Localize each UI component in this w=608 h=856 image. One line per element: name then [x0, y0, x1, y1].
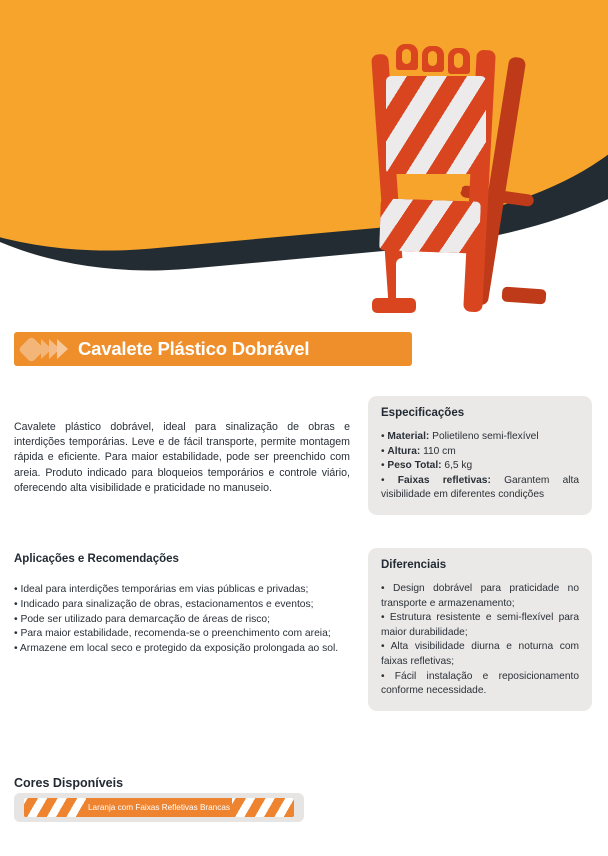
aplicacoes-list: • Ideal para interdições temporárias em …	[14, 583, 350, 657]
spec-label-1: Altura:	[387, 446, 420, 457]
barricade-foot-left	[372, 298, 416, 313]
barricade-handle-slot-1	[402, 49, 411, 64]
barricade-handle-slot-2	[428, 51, 437, 66]
spec-label-3: Faixas refletivas:	[398, 475, 491, 486]
barricade-reflective-panel-upper	[386, 76, 486, 174]
spec-bullet-2: •	[381, 460, 385, 471]
diferencial-item: • Design dobrável para praticidade no tr…	[381, 582, 579, 611]
spec-label-0: Material:	[387, 431, 429, 442]
spec-item-3: • Faixas refletivas: Garantem alta visib…	[381, 475, 579, 501]
especificacoes-heading: Especificações	[381, 407, 579, 419]
barricade-cutout-upper	[400, 180, 462, 196]
spec-item-0: • Material: Polietileno semi-flexível	[381, 431, 539, 442]
diferenciais-heading: Diferenciais	[381, 559, 579, 571]
barricade-reflective-panel-lower	[379, 198, 481, 253]
spec-bullet-1: •	[381, 446, 385, 457]
aplicacao-item: • Ideal para interdições temporárias em …	[14, 583, 350, 598]
spec-bullet-3: •	[381, 475, 385, 486]
reflective-stripes-upper	[386, 76, 486, 174]
diferenciais-panel: Diferenciais • Design dobrável para prat…	[368, 548, 592, 711]
barricade-foot-right	[502, 286, 547, 304]
product-title-banner: Cavalete Plástico Dobrável	[14, 332, 412, 366]
color-swatch-container: Laranja com Faixas Refletivas Brancas	[14, 793, 304, 822]
spec-value-2: 6,5 kg	[442, 460, 473, 471]
swatch-stripes-left	[24, 798, 86, 817]
aplicacao-item: • Para maior estabilidade, recomenda-se …	[14, 627, 350, 642]
spec-value-1: 110 cm	[420, 446, 455, 457]
page-title: Cavalete Plástico Dobrável	[78, 338, 309, 360]
spec-label-2: Peso Total:	[387, 460, 441, 471]
chevron-decoration	[22, 339, 68, 359]
reflective-stripes-lower	[379, 198, 481, 253]
swatch-stripes-right	[232, 798, 294, 817]
color-swatch-orange-bar: Laranja com Faixas Refletivas Brancas	[24, 798, 294, 817]
aplicacao-item: • Pode ser utilizado para demarcação de …	[14, 613, 350, 628]
cores-heading: Cores Disponíveis	[14, 776, 123, 790]
especificacoes-panel: Especificações • Material: Polietileno s…	[368, 396, 592, 515]
aplicacoes-heading: Aplicações e Recomendações	[14, 553, 179, 565]
spec-item-2: • Peso Total: 6,5 kg	[381, 460, 472, 471]
diferencial-item: • Fácil instalação e reposicionamento co…	[381, 670, 579, 699]
color-swatch-label: Laranja com Faixas Refletivas Brancas	[88, 803, 230, 812]
intro-paragraph: Cavalete plástico dobrável, ideal para s…	[14, 420, 350, 496]
diferencial-item: • Alta visibilidade diurna e noturna com…	[381, 640, 579, 669]
especificacoes-list: • Material: Polietileno semi-flexível • …	[381, 430, 579, 503]
product-image-barricade	[352, 40, 608, 330]
diferencial-item: • Estrutura resistente e semi-flexível p…	[381, 611, 579, 640]
aplicacao-item: • Indicado para sinalização de obras, es…	[14, 598, 350, 613]
barricade-handle-slot-3	[454, 53, 463, 68]
spec-item-1: • Altura: 110 cm	[381, 446, 456, 457]
spec-value-0: Polietileno semi-flexível	[429, 431, 538, 442]
spec-bullet-0: •	[381, 431, 385, 442]
aplicacao-item: • Armazene em local seco e protegido da …	[14, 642, 350, 657]
chevron-right-icon-3	[57, 339, 68, 359]
